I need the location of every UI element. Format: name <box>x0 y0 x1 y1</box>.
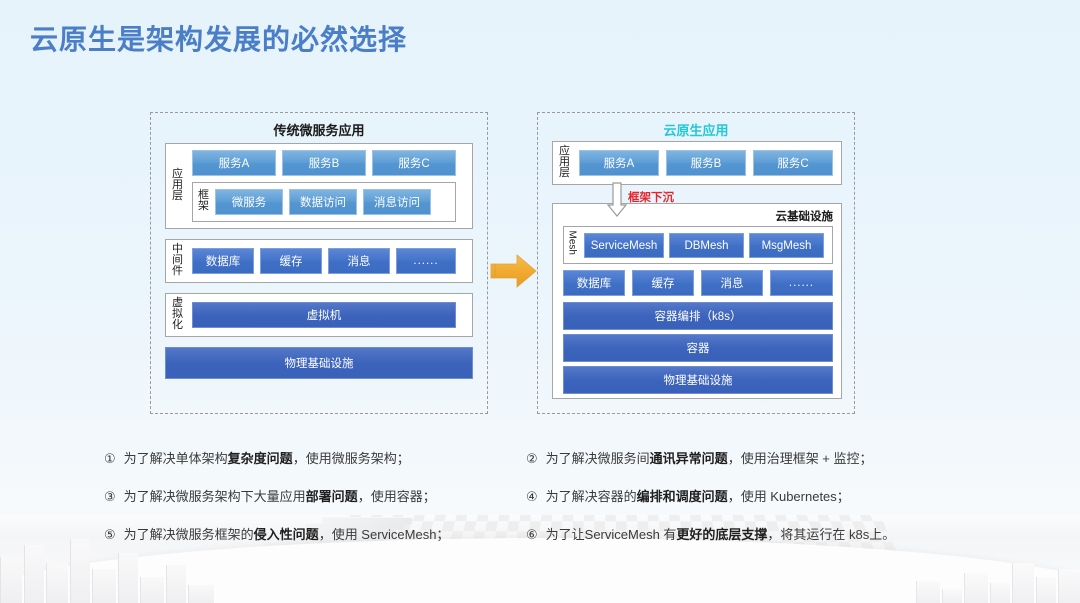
bullet-number-5: ⑤ <box>104 527 116 542</box>
cloud-container-orchestration-box[interactable]: 容器编排（k8s） <box>563 302 833 330</box>
traditional-service-c-box[interactable]: 服务C <box>372 150 456 176</box>
traditional-middleware-layer-label: 中间件 <box>171 244 184 278</box>
cloud-database-box[interactable]: 数据库 <box>563 270 625 296</box>
traditional-data-access-box[interactable]: 数据访问 <box>289 189 357 215</box>
traditional-message-box[interactable]: 消息 <box>328 248 390 274</box>
bullet-text-pre-1: 为了解决单体架构 <box>124 451 228 466</box>
traditional-cache-box[interactable]: 缓存 <box>260 248 322 274</box>
bullet-text-pre-2: 为了解决微服务间 <box>546 451 650 466</box>
cloud-container-box[interactable]: 容器 <box>563 334 833 362</box>
cloud-mesh-label: Mesh <box>567 231 578 259</box>
cloud-message-box[interactable]: 消息 <box>701 270 763 296</box>
bullet-text-post-2: ，使用治理框架 + 监控； <box>728 451 873 466</box>
traditional-more-box[interactable]: ...... <box>396 248 456 274</box>
traditional-application-layer-group: 应用层 服务A 服务B 服务C 框架 微服务 数据访问 消息访问 <box>165 143 473 229</box>
traditional-virtual-machine-box[interactable]: 虚拟机 <box>192 302 456 328</box>
bullet-number-2: ② <box>526 451 538 466</box>
framework-sinking-annotation: 框架下沉 <box>628 189 674 205</box>
bullet-text-pre-3: 为了解决微服务架构下大量应用 <box>124 489 306 504</box>
page-title: 云原生是架构发展的必然选择 <box>30 18 407 58</box>
list-item: ⑥为了让ServiceMesh 有更好的底层支撑，将其运行在 k8s上。 <box>526 528 895 541</box>
traditional-architecture-panel: 传统微服务应用 应用层 服务A 服务B 服务C 框架 微服务 数据访问 消息访问… <box>150 112 488 414</box>
list-item: ⑤为了解决微服务框架的侵入性问题，使用 ServiceMesh； <box>104 528 449 541</box>
cloud-physical-infrastructure-box[interactable]: 物理基础设施 <box>563 366 833 394</box>
traditional-panel-title: 传统微服务应用 <box>151 120 487 139</box>
cloud-service-a-box[interactable]: 服务A <box>579 150 659 176</box>
list-item: ④为了解决容器的编排和调度问题，使用 Kubernetes； <box>526 490 850 503</box>
bullet-text-strong-2: 通讯异常问题 <box>650 451 728 466</box>
cloud-mesh-subgroup: Mesh ServiceMesh DBMesh MsgMesh <box>563 226 833 264</box>
traditional-virtualization-layer-label: 虚拟化 <box>171 298 184 332</box>
bullet-number-3: ③ <box>104 489 116 504</box>
traditional-physical-infrastructure-box[interactable]: 物理基础设施 <box>165 347 473 379</box>
traditional-service-a-box[interactable]: 服务A <box>192 150 276 176</box>
traditional-message-access-box[interactable]: 消息访问 <box>363 189 431 215</box>
list-item: ②为了解决微服务间通讯异常问题，使用治理框架 + 监控； <box>526 452 873 465</box>
bullet-number-4: ④ <box>526 489 538 504</box>
traditional-framework-subgroup: 框架 微服务 数据访问 消息访问 <box>192 182 456 222</box>
traditional-database-box[interactable]: 数据库 <box>192 248 254 274</box>
traditional-microservice-box[interactable]: 微服务 <box>215 189 283 215</box>
cloud-infrastructure-label: 云基础设施 <box>776 208 834 224</box>
cloud-native-panel-title: 云原生应用 <box>538 120 854 139</box>
bullet-text-pre-6: 为了让ServiceMesh 有 <box>546 527 677 542</box>
bullet-text-strong-4: 编排和调度问题 <box>637 489 728 504</box>
traditional-service-b-box[interactable]: 服务B <box>282 150 366 176</box>
bullet-text-post-5: ，使用 ServiceMesh； <box>319 527 450 542</box>
bullet-text-post-3: ，使用容器； <box>358 489 436 504</box>
traditional-application-layer-label: 应用层 <box>171 169 184 203</box>
bullet-number-1: ① <box>104 451 116 466</box>
traditional-virtualization-layer-group: 虚拟化 虚拟机 <box>165 293 473 337</box>
cloud-application-layer-group: 应用层 服务A 服务B 服务C <box>552 141 842 185</box>
bullet-text-strong-1: 复杂度问题 <box>228 451 293 466</box>
cloud-cache-box[interactable]: 缓存 <box>632 270 694 296</box>
bullet-text-strong-6: 更好的底层支撑 <box>676 527 767 542</box>
bullet-text-strong-3: 部署问题 <box>306 489 358 504</box>
bullet-text-strong-5: 侵入性问题 <box>254 527 319 542</box>
list-item: ③为了解决微服务架构下大量应用部署问题，使用容器； <box>104 490 436 503</box>
cloud-dbmesh-box[interactable]: DBMesh <box>669 233 744 258</box>
cloud-service-c-box[interactable]: 服务C <box>753 150 833 176</box>
bullet-number-6: ⑥ <box>526 527 538 542</box>
traditional-middleware-layer-group: 中间件 数据库 缓存 消息 ...... <box>165 239 473 283</box>
bullet-text-post-1: ，使用微服务架构； <box>293 451 410 466</box>
arrow-down-icon <box>606 182 628 218</box>
traditional-framework-label: 框架 <box>197 190 210 212</box>
cloud-native-architecture-panel: 云原生应用 应用层 服务A 服务B 服务C 云基础设施 Mesh Service… <box>537 112 855 414</box>
right-blocks <box>870 543 1080 603</box>
cloud-infrastructure-group: 云基础设施 Mesh ServiceMesh DBMesh MsgMesh 数据… <box>552 203 842 399</box>
arrow-right-icon <box>489 252 539 290</box>
cloud-msgmesh-box[interactable]: MsgMesh <box>749 233 824 258</box>
bullet-text-post-4: ，使用 Kubernetes； <box>728 489 850 504</box>
list-item: ①为了解决单体架构复杂度问题，使用微服务架构； <box>104 452 410 465</box>
cloud-servicemesh-box[interactable]: ServiceMesh <box>584 233 664 258</box>
cloud-application-layer-label: 应用层 <box>558 146 571 180</box>
cloud-service-b-box[interactable]: 服务B <box>666 150 746 176</box>
cloud-more-box[interactable]: ...... <box>770 270 833 296</box>
bullet-text-post-6: ，将其运行在 k8s上。 <box>767 527 895 542</box>
bullet-text-pre-4: 为了解决容器的 <box>546 489 637 504</box>
bullet-text-pre-5: 为了解决微服务框架的 <box>124 527 254 542</box>
